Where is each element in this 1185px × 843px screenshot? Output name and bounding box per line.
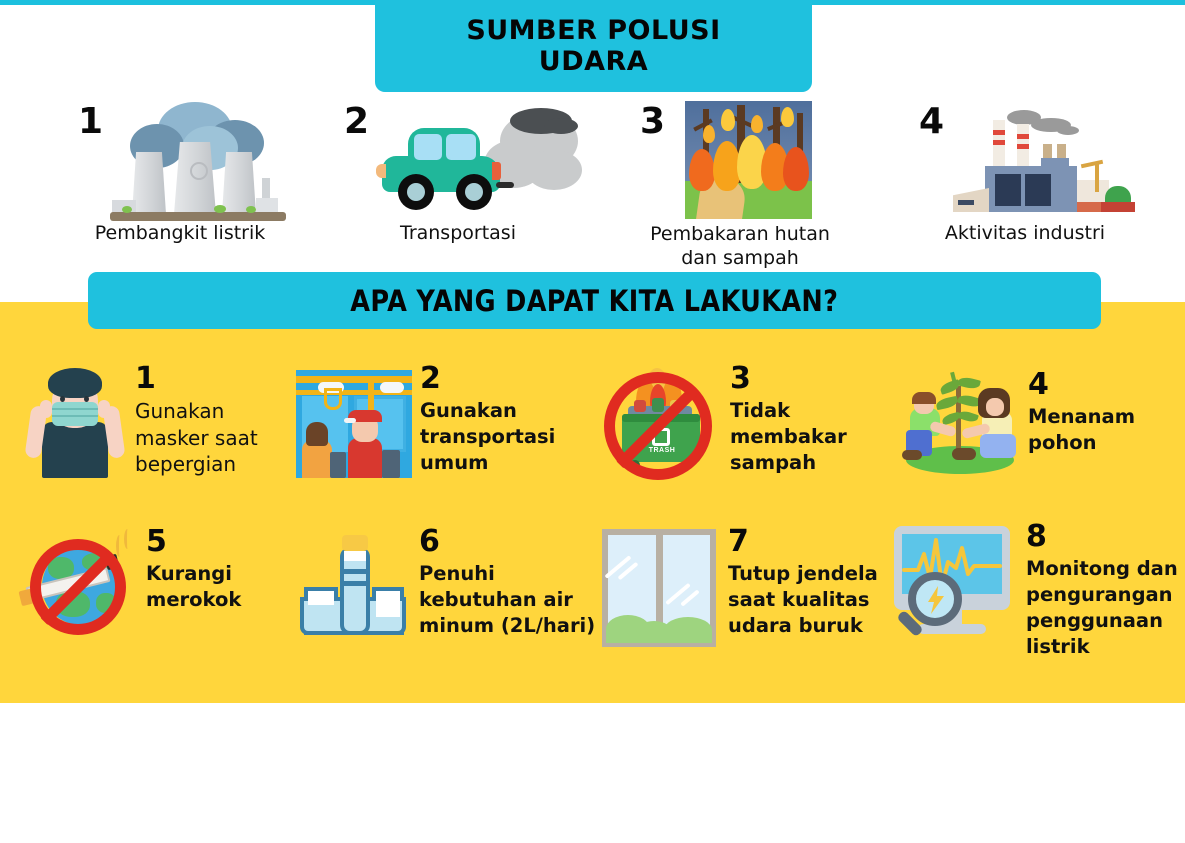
- action-label-2: Gunakan transportasi umum: [420, 398, 555, 476]
- action-label-3-line2: membakar: [730, 424, 847, 450]
- source-number-2: 2: [344, 104, 369, 140]
- source-label-3-line1: Pembakaran hutan: [600, 222, 880, 246]
- closed-window-icon: [602, 525, 720, 647]
- action-text-7: 7 Tutup jendela saat kualitas udara buru…: [728, 525, 878, 639]
- action-item-6: 6 Penuhi kebutuhan air minum (2L/hari): [296, 525, 596, 640]
- action-label-6-line1: Penuhi: [419, 561, 595, 587]
- source-number-3: 3: [640, 104, 665, 140]
- source-item-industry: 4: [885, 96, 1165, 276]
- source-label-3-line2: dan sampah: [600, 246, 880, 270]
- action-label-4-line2: pohon: [1028, 430, 1135, 456]
- action-number-4: 4: [1028, 370, 1135, 400]
- action-label-1: Gunakan masker saat bepergian: [135, 398, 258, 478]
- factory-icon: [945, 104, 1135, 220]
- action-label-8-line4: listrik: [1026, 634, 1178, 660]
- action-number-7: 7: [728, 527, 878, 557]
- tree-planting-icon: [900, 368, 1020, 476]
- action-label-8-line2: pengurangan: [1026, 582, 1178, 608]
- action-label-7-line2: saat kualitas: [728, 587, 878, 613]
- source-item-forest-fire: 3: [600, 96, 880, 276]
- actions-banner: APA YANG DAPAT KITA LAKUKAN?: [88, 272, 1101, 329]
- car-exhaust-icon: [376, 106, 591, 218]
- source-label-4: Aktivitas industri: [885, 222, 1165, 246]
- source-item-power-plant: 1 Pembangkit listrik: [40, 96, 320, 276]
- action-label-2-line1: Gunakan: [420, 398, 555, 424]
- action-label-8-line1: Monitong dan: [1026, 556, 1178, 582]
- lightning-bolt-icon: [926, 586, 946, 614]
- action-label-7-line1: Tutup jendela: [728, 561, 878, 587]
- action-item-1: 1 Gunakan masker saat bepergian: [22, 362, 287, 482]
- source-number-4: 4: [919, 104, 944, 140]
- action-label-8-line3: penggunaan: [1026, 608, 1178, 634]
- action-item-4: 4 Menanam pohon: [900, 368, 1170, 476]
- action-number-2: 2: [420, 364, 555, 394]
- action-number-1: 1: [135, 364, 258, 394]
- page-title-line1: SUMBER POLUSI: [466, 15, 720, 46]
- action-number-5: 5: [146, 527, 241, 557]
- action-label-6-line3: minum (2L/hari): [419, 613, 595, 639]
- action-text-4: 4 Menanam pohon: [1028, 368, 1135, 456]
- monitor-magnifier-electricity-icon: [890, 520, 1018, 648]
- action-label-1-line3: bepergian: [135, 451, 258, 478]
- action-label-7: Tutup jendela saat kualitas udara buruk: [728, 561, 878, 639]
- action-label-4-line1: Menanam: [1028, 404, 1135, 430]
- page-title-line2: UDARA: [539, 46, 648, 77]
- action-text-1: 1 Gunakan masker saat bepergian: [135, 362, 258, 478]
- action-label-3-line3: sampah: [730, 450, 847, 476]
- source-item-transport: 2 Transportasi: [318, 96, 598, 276]
- action-label-4: Menanam pohon: [1028, 404, 1135, 456]
- actions-banner-title: APA YANG DAPAT KITA LAKUKAN?: [350, 284, 838, 318]
- source-number-1: 1: [78, 104, 103, 140]
- action-label-6-line2: kebutuhan air: [419, 587, 595, 613]
- action-item-8: 8 Monitong dan pengurangan penggunaan li…: [890, 520, 1180, 660]
- action-label-7-line3: udara buruk: [728, 613, 878, 639]
- source-label-1: Pembangkit listrik: [40, 222, 320, 246]
- power-plant-icon: [110, 102, 290, 220]
- infographic-page: SUMBER POLUSI UDARA 1: [0, 0, 1185, 843]
- action-label-5: Kurangi merokok: [146, 561, 241, 613]
- action-label-3-line1: Tidak: [730, 398, 847, 424]
- action-item-5: 5 Kurangi merokok: [20, 525, 285, 635]
- action-item-3: TRASH 3 Tidak membakar sampah: [600, 362, 885, 484]
- forest-fire-icon: [685, 101, 812, 219]
- title-banner: SUMBER POLUSI UDARA: [375, 0, 812, 92]
- bus-passengers-icon: [296, 362, 412, 478]
- action-label-1-line1: Gunakan: [135, 398, 258, 425]
- action-text-2: 2 Gunakan transportasi umum: [420, 362, 555, 476]
- action-text-8: 8 Monitong dan pengurangan penggunaan li…: [1026, 520, 1178, 660]
- action-label-6: Penuhi kebutuhan air minum (2L/hari): [419, 561, 595, 639]
- action-number-3: 3: [730, 364, 847, 394]
- action-label-2-line3: umum: [420, 450, 555, 476]
- source-label-3: Pembakaran hutan dan sampah: [600, 222, 880, 271]
- action-label-1-line2: masker saat: [135, 425, 258, 452]
- pollution-sources-row: 1 Pembangkit listrik 2: [0, 96, 1185, 281]
- action-label-3: Tidak membakar sampah: [730, 398, 847, 476]
- action-label-5-line1: Kurangi: [146, 561, 241, 587]
- no-burning-trash-icon: TRASH: [600, 362, 722, 484]
- action-label-8: Monitong dan pengurangan penggunaan list…: [1026, 556, 1178, 660]
- action-text-6: 6 Penuhi kebutuhan air minum (2L/hari): [419, 525, 595, 639]
- action-label-2-line2: transportasi: [420, 424, 555, 450]
- source-label-2: Transportasi: [318, 222, 598, 246]
- action-text-5: 5 Kurangi merokok: [146, 525, 241, 613]
- water-bottle-glasses-icon: [296, 525, 411, 640]
- no-smoking-globe-icon: [20, 525, 138, 635]
- person-wearing-mask-icon: [22, 362, 127, 482]
- action-item-2: 2 Gunakan transportasi umum: [296, 362, 576, 478]
- action-label-5-line2: merokok: [146, 587, 241, 613]
- action-item-7: 7 Tutup jendela saat kualitas udara buru…: [602, 525, 892, 647]
- action-number-8: 8: [1026, 522, 1178, 552]
- action-number-6: 6: [419, 527, 595, 557]
- action-text-3: 3 Tidak membakar sampah: [730, 362, 847, 476]
